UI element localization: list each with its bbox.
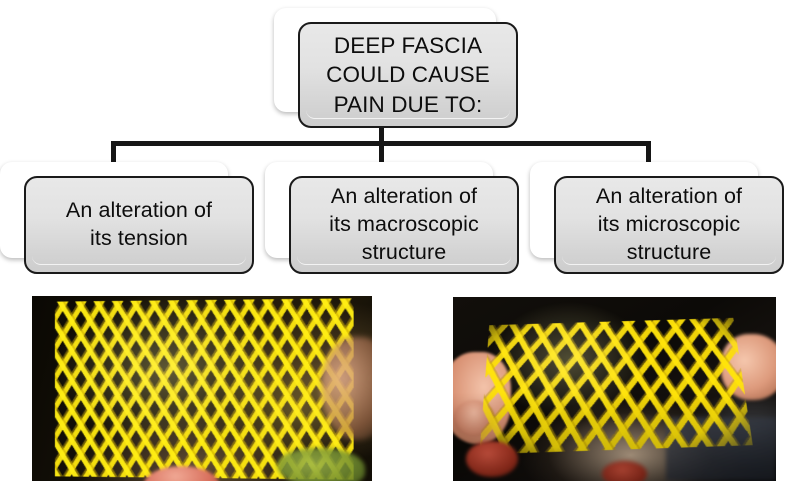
node-label: An alteration of its microscopic structu…: [590, 183, 748, 267]
node-label: An alteration of its tension: [60, 197, 218, 253]
photo-draped-mesh: [453, 297, 776, 481]
red-object-blob: [466, 441, 518, 478]
node-card: An alteration of its macroscopic structu…: [289, 176, 519, 274]
red-object-blob-secondary: [602, 461, 647, 481]
node-alteration-macroscopic[interactable]: An alteration of its macroscopic structu…: [265, 162, 519, 274]
node-card: An alteration of its microscopic structu…: [554, 176, 784, 274]
node-card: An alteration of its tension: [24, 176, 254, 274]
node-card: DEEP FASCIA COULD CAUSE PAIN DUE TO:: [298, 22, 518, 128]
node-alteration-tension[interactable]: An alteration of its tension: [0, 162, 254, 274]
node-alteration-microscopic[interactable]: An alteration of its microscopic structu…: [530, 162, 784, 274]
slide-canvas: DEEP FASCIA COULD CAUSE PAIN DUE TO: An …: [0, 0, 787, 489]
mesh-lattice-draped: [480, 318, 754, 454]
node-label: DEEP FASCIA COULD CAUSE PAIN DUE TO:: [320, 31, 496, 119]
photo-flat-mesh: [32, 296, 372, 481]
node-label: An alteration of its macroscopic structu…: [323, 183, 485, 267]
node-deep-fascia-root[interactable]: DEEP FASCIA COULD CAUSE PAIN DUE TO:: [274, 8, 518, 128]
